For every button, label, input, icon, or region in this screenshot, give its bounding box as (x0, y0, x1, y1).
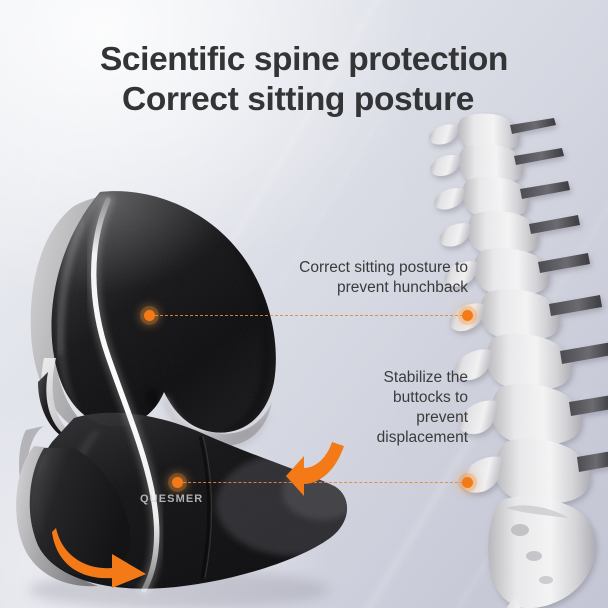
annotation-buttocks-line-3: prevent (308, 408, 468, 428)
page-title: Scientific spine protection Correct sitt… (0, 40, 608, 120)
annotation-buttocks-line-1: Stabilize the (308, 368, 468, 388)
callout-dot-cushion-lower (172, 477, 183, 488)
product-marketing-image: QUESMER Scientific spine protection Corr… (0, 0, 608, 608)
callout-dot-cushion-upper (144, 310, 155, 321)
spine-illustration (402, 112, 608, 608)
annotation-posture-line-1: Correct sitting posture to (228, 258, 468, 278)
annotation-posture-line-2: prevent hunchback (228, 278, 468, 298)
callout-dot-spine-upper (462, 310, 473, 321)
pressure-arrow-left-icon (286, 440, 348, 496)
connector-line-posture (150, 315, 468, 316)
headline-line-2: Correct sitting posture (0, 80, 602, 120)
headline-line-1: Scientific spine protection (0, 40, 608, 80)
annotation-buttocks-line-2: buttocks to (308, 388, 468, 408)
annotation-posture: Correct sitting posture to prevent hunch… (228, 258, 468, 298)
pressure-arrow-right-icon (52, 524, 150, 588)
callout-dot-spine-lower (462, 477, 473, 488)
annotation-buttocks: Stabilize the buttocks to prevent displa… (308, 368, 468, 448)
